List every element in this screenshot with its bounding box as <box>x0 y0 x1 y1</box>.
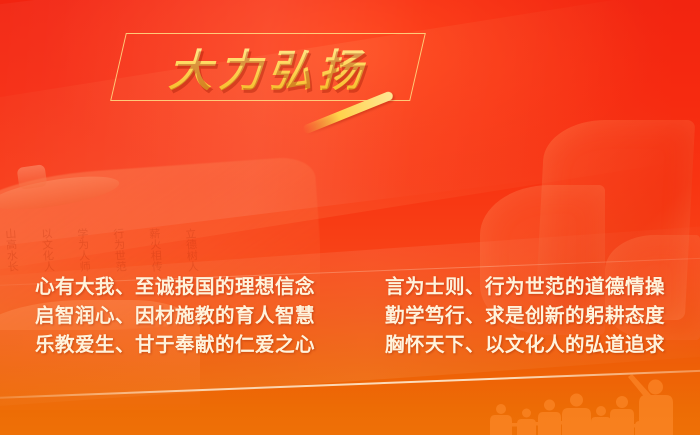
main-title-char: 家 <box>301 141 403 242</box>
main-title-char: 精 <box>397 127 510 230</box>
sub-banner-text: 大力弘扬 <box>118 33 418 101</box>
slogan-block: 心有大我、至诚报国的理想信念 言为士则、行为世范的道德情操 启智润心、因材施教的… <box>0 276 700 358</box>
slogan-right: 勤学笃行、求是创新的躬耕态度 <box>385 305 665 329</box>
slogan-row: 启智润心、因材施教的育人智慧 勤学笃行、求是创新的躬耕态度 <box>35 305 665 329</box>
slogan-left: 乐教爱生、甘于奉献的仁爱之心 <box>35 334 315 358</box>
slogan-row: 乐教爱生、甘于奉献的仁爱之心 胸怀天下、以文化人的弘道追求 <box>35 334 665 358</box>
main-title-char: 育 <box>197 131 307 231</box>
main-title-char: 教 <box>94 140 203 251</box>
slogan-right: 言为士则、行为世范的道德情操 <box>385 276 665 300</box>
slogan-right: 胸怀天下、以文化人的弘道追求 <box>385 334 665 358</box>
slogan-left: 心有大我、至诚报国的理想信念 <box>35 276 315 300</box>
main-title-char: 神 <box>504 129 606 234</box>
main-title: 教 育 家 精 神 <box>0 108 700 263</box>
slogan-row: 心有大我、至诚报国的理想信念 言为士则、行为世范的道德情操 <box>35 276 665 300</box>
slogan-left: 启智润心、因材施教的育人智慧 <box>35 305 315 329</box>
poster-banner: 山高水长 以文化人 学为人师 行为世范 薪火相传 立德树人 大力弘扬 教 育 家… <box>0 0 700 435</box>
